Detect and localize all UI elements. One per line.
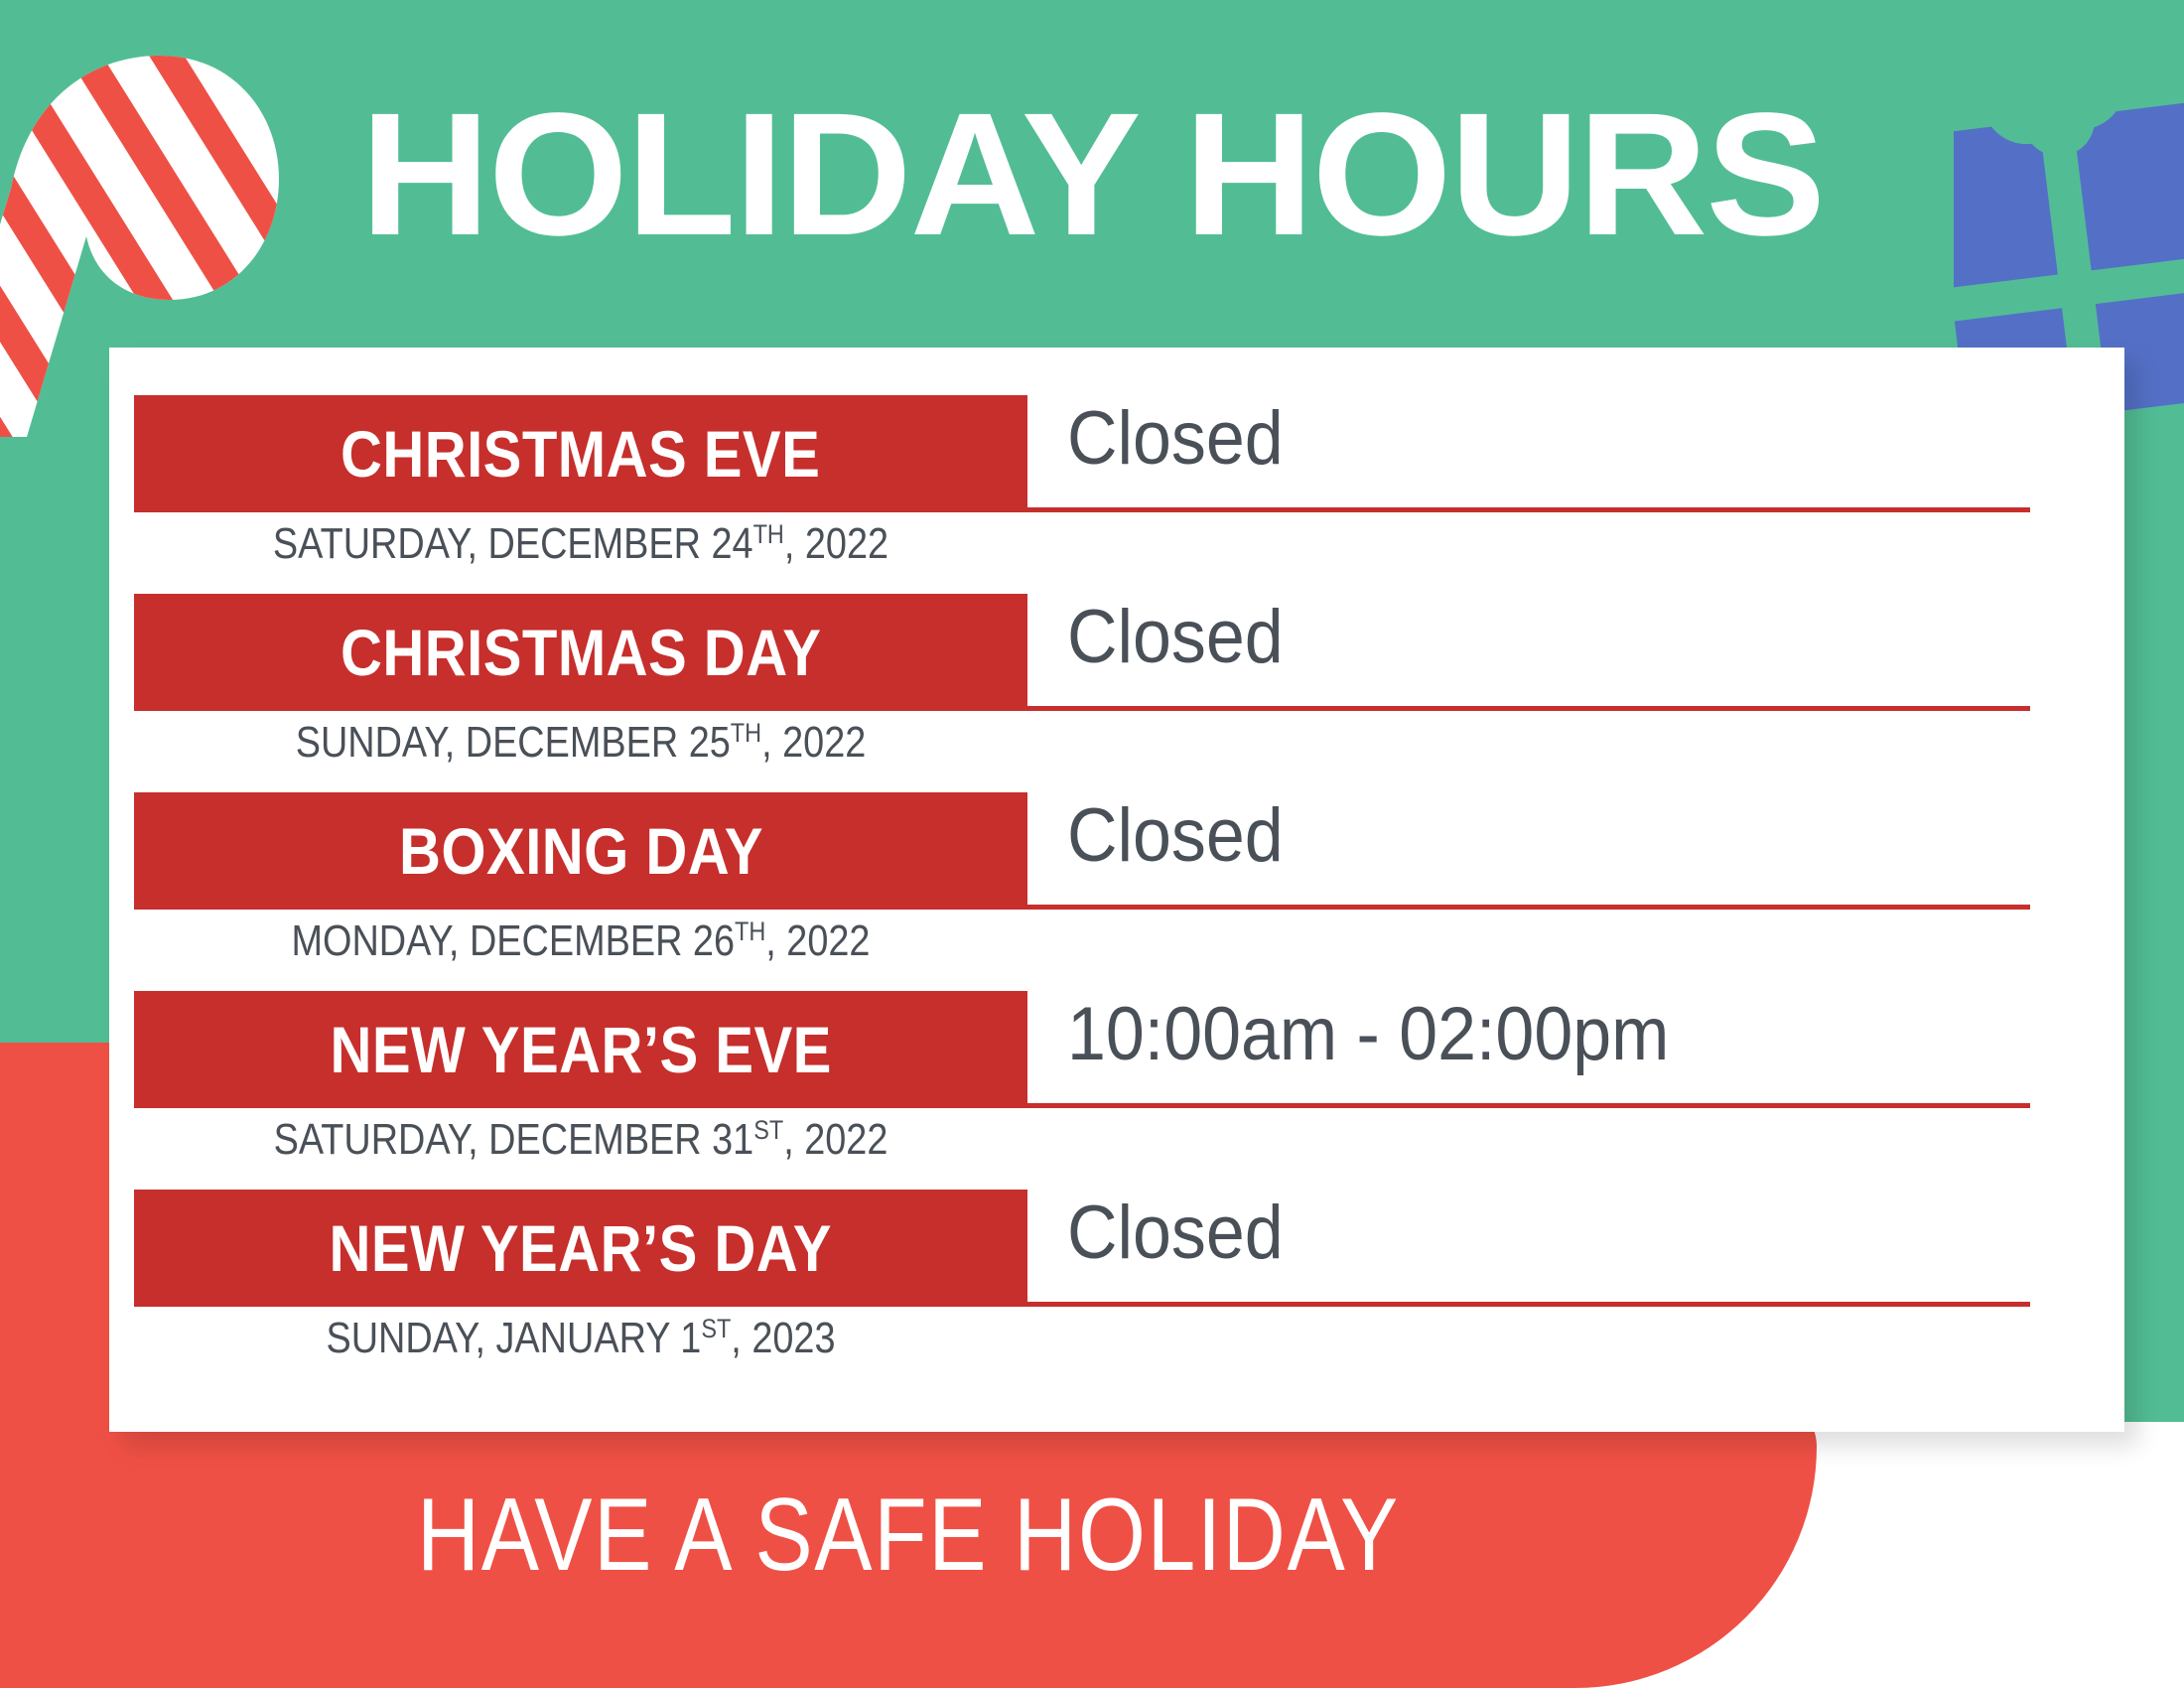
holiday-date-ordinal: TH bbox=[753, 518, 784, 549]
schedule-card: CHRISTMAS EVE SATURDAY, DECEMBER 24TH, 2… bbox=[109, 348, 2124, 1432]
holiday-name: CHRISTMAS DAY bbox=[341, 620, 821, 685]
footer-message: HAVE A SAFE HOLIDAY bbox=[145, 1483, 1671, 1587]
schedule-row: BOXING DAY MONDAY, DECEMBER 26TH, 2022 C… bbox=[134, 792, 2100, 991]
holiday-date-prefix: MONDAY, DECEMBER 26 bbox=[292, 916, 735, 965]
schedule-row: CHRISTMAS DAY SUNDAY, DECEMBER 25TH, 202… bbox=[134, 594, 2100, 792]
holiday-banner: BOXING DAY bbox=[134, 792, 1027, 910]
holiday-hours-value: Closed bbox=[1067, 1196, 1980, 1271]
hours-underline bbox=[1027, 706, 2030, 711]
holiday-hours-value: Closed bbox=[1067, 600, 1980, 675]
hours-underline bbox=[1027, 1302, 2030, 1307]
schedule-row: NEW YEAR’S EVE SATURDAY, DECEMBER 31ST, … bbox=[134, 991, 2100, 1190]
holiday-banner: NEW YEAR’S EVE bbox=[134, 991, 1027, 1108]
holiday-name: NEW YEAR’S EVE bbox=[330, 1017, 831, 1082]
holiday-date: MONDAY, DECEMBER 26TH, 2022 bbox=[197, 915, 965, 968]
schedule-row: NEW YEAR’S DAY SUNDAY, JANUARY 1ST, 2023… bbox=[134, 1190, 2100, 1388]
schedule-row: CHRISTMAS EVE SATURDAY, DECEMBER 24TH, 2… bbox=[134, 395, 2100, 594]
holiday-date-suffix: , 2023 bbox=[731, 1314, 835, 1362]
holiday-date-prefix: SUNDAY, DECEMBER 25 bbox=[296, 718, 731, 767]
holiday-hours-value: Closed bbox=[1067, 401, 1980, 477]
holiday-date-ordinal: ST bbox=[753, 1114, 783, 1145]
schedule-rows: CHRISTMAS EVE SATURDAY, DECEMBER 24TH, 2… bbox=[109, 348, 2124, 1432]
holiday-hours-poster: HOLIDAY HOURS CHRISTMAS EVE SATURDAY, DE… bbox=[0, 0, 2184, 1688]
holiday-date: SUNDAY, JANUARY 1ST, 2023 bbox=[197, 1313, 965, 1365]
holiday-name: BOXING DAY bbox=[399, 818, 763, 884]
holiday-date: SATURDAY, DECEMBER 31ST, 2022 bbox=[197, 1114, 965, 1167]
holiday-date-prefix: SATURDAY, DECEMBER 24 bbox=[273, 519, 753, 568]
holiday-date-suffix: , 2022 bbox=[783, 1115, 887, 1164]
holiday-date-ordinal: TH bbox=[731, 717, 761, 748]
holiday-banner: CHRISTMAS EVE bbox=[134, 395, 1027, 512]
holiday-date-prefix: SATURDAY, DECEMBER 31 bbox=[274, 1115, 754, 1164]
holiday-date-prefix: SUNDAY, JANUARY 1 bbox=[326, 1314, 701, 1362]
holiday-date-suffix: , 2022 bbox=[761, 718, 866, 767]
hours-underline bbox=[1027, 1103, 2030, 1108]
holiday-banner: NEW YEAR’S DAY bbox=[134, 1190, 1027, 1307]
holiday-date-ordinal: TH bbox=[735, 915, 765, 946]
holiday-name: CHRISTMAS EVE bbox=[341, 421, 820, 487]
holiday-name: NEW YEAR’S DAY bbox=[330, 1215, 832, 1281]
holiday-banner: CHRISTMAS DAY bbox=[134, 594, 1027, 711]
holiday-hours-value: Closed bbox=[1067, 798, 1980, 874]
holiday-date: SATURDAY, DECEMBER 24TH, 2022 bbox=[197, 518, 965, 571]
holiday-date-ordinal: ST bbox=[701, 1313, 731, 1343]
holiday-date-suffix: , 2022 bbox=[765, 916, 870, 965]
page-title: HOLIDAY HOURS bbox=[0, 87, 2184, 262]
holiday-date: SUNDAY, DECEMBER 25TH, 2022 bbox=[197, 717, 965, 770]
holiday-hours-value: 10:00am - 02:00pm bbox=[1067, 997, 1980, 1072]
hours-underline bbox=[1027, 905, 2030, 910]
holiday-date-suffix: , 2022 bbox=[784, 519, 888, 568]
hours-underline bbox=[1027, 507, 2030, 512]
